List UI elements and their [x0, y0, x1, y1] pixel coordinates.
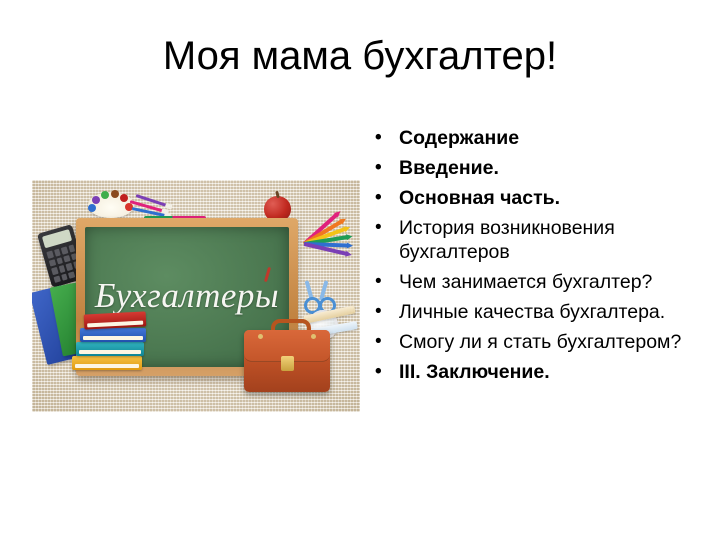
palette-dot [88, 204, 96, 212]
list-item: Личные качества бухгалтера. [370, 300, 690, 324]
palette-dot [92, 196, 100, 204]
list-item: Основная часть. [370, 186, 690, 210]
list-item: Содержание [370, 126, 690, 150]
content-list: Содержание Введение. Основная часть. Ист… [370, 126, 690, 390]
list-item: История возникновения бухгалтеров [370, 216, 690, 264]
page-title: Моя мама бухгалтер! [36, 33, 684, 79]
book-teal [76, 342, 144, 356]
list-item: Чем занимается бухгалтер? [370, 270, 690, 294]
chalkboard-illustration[interactable]: Бухгалтеры [32, 180, 360, 412]
slide: Моя мама бухгалтер! [0, 0, 720, 540]
bullet-list: Содержание Введение. Основная часть. Ист… [370, 126, 690, 384]
list-item: Введение. [370, 156, 690, 180]
list-item: III. Заключение. [370, 360, 690, 384]
chalkboard-text: Бухгалтеры [85, 276, 289, 316]
paint-palette-icon [88, 192, 134, 218]
book-yellow [72, 356, 142, 370]
palette-dot [101, 191, 109, 199]
briefcase-icon [244, 330, 330, 392]
list-item: Смогу ли я стать бухгалтером? [370, 330, 690, 354]
palette-dot [120, 194, 128, 202]
book-blue [80, 328, 146, 342]
scissors-icon [304, 280, 330, 310]
palette-dot [111, 190, 119, 198]
briefcase-lock [281, 356, 294, 371]
